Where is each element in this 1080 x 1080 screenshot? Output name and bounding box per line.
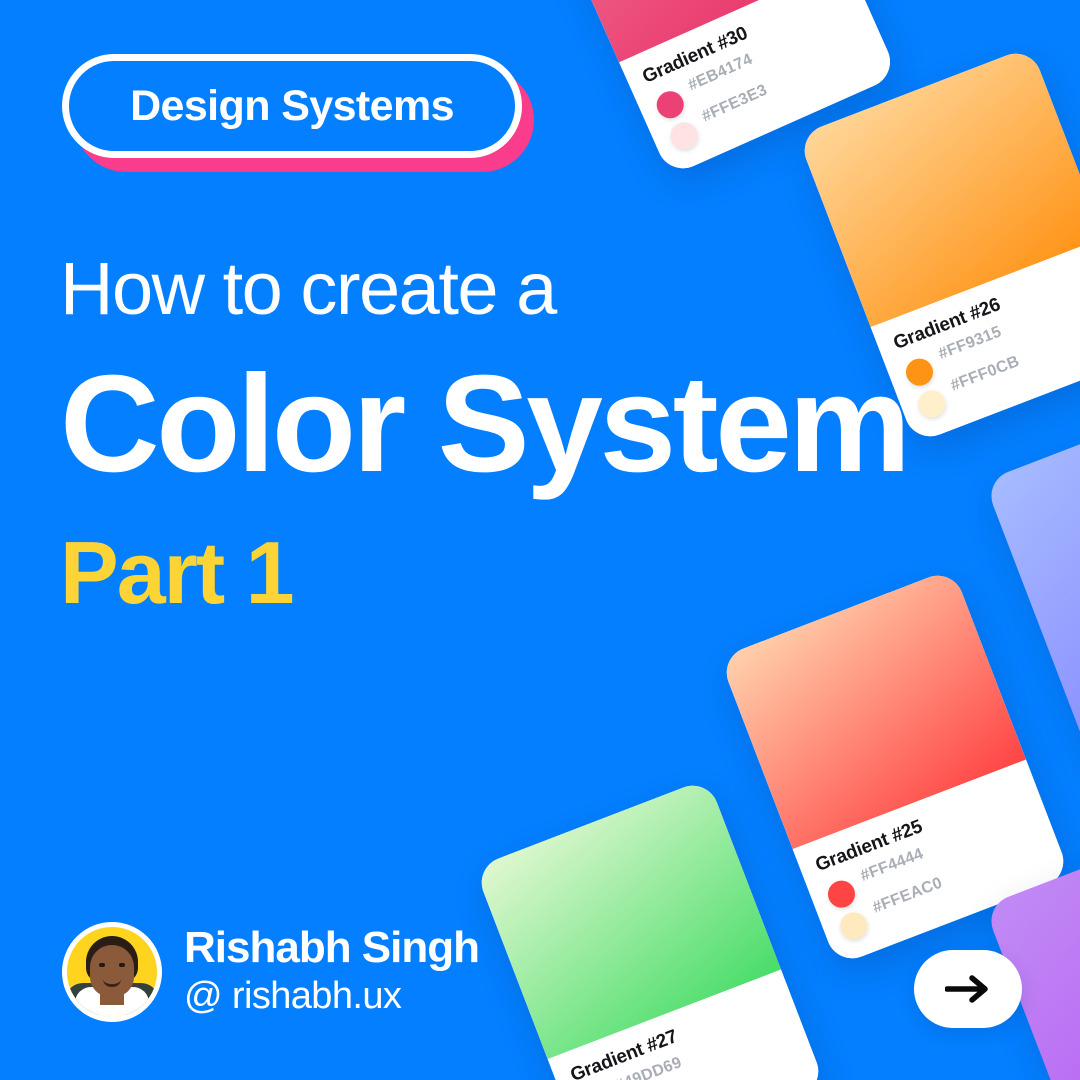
avatar — [62, 922, 162, 1022]
color-dot-icon — [824, 877, 859, 912]
headline-kicker: How to create a — [60, 250, 1020, 328]
headline-block: How to create a Color System Part 1 — [60, 250, 1020, 619]
next-slide-button[interactable] — [914, 950, 1022, 1028]
arrow-right-icon — [945, 974, 991, 1004]
headline-title: Color System — [60, 350, 1020, 499]
author-name: Rishabh Singh — [184, 924, 479, 972]
headline-part: Part 1 — [60, 527, 1020, 619]
author-handle: @ rishabh.ux — [184, 974, 479, 1020]
swatch-card-gradient-27: Gradient #27 #49DD69 #F8FFED — [474, 778, 826, 1080]
category-badge: Design Systems — [62, 54, 522, 164]
avatar-face-icon — [90, 945, 134, 997]
author-text: Rishabh Singh @ rishabh.ux — [184, 924, 479, 1019]
badge-pill: Design Systems — [62, 54, 522, 158]
avatar-eye-right-icon — [119, 963, 125, 967]
author-block: Rishabh Singh @ rishabh.ux — [62, 922, 479, 1022]
color-dot-icon — [652, 87, 688, 123]
avatar-eye-left-icon — [99, 963, 105, 967]
color-dot-icon — [666, 118, 702, 154]
social-post-canvas: Gradient #30 #EB4174 #FFE3E3 Gradient #2… — [0, 0, 1080, 1080]
color-dot-icon — [836, 908, 871, 943]
badge-label: Design Systems — [130, 82, 454, 131]
